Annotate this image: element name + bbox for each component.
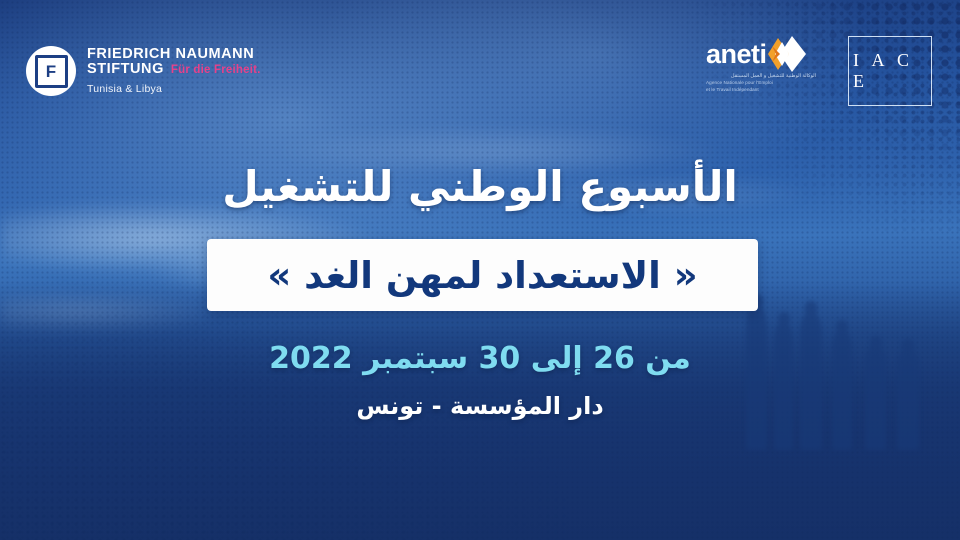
event-poster: F FRIEDRICH NAUMANN STIFTUNG Für die Fre…: [0, 0, 960, 540]
iace-wordmark: I A C E: [849, 50, 931, 92]
event-headline: الأسبوع الوطني للتشغيل: [0, 163, 960, 211]
logo-aneti: aneti الوكالة الوطنية للتشغيل و العمل ال…: [706, 38, 816, 94]
aneti-subtitle: الوكالة الوطنية للتشغيل و العمل المستقل …: [706, 73, 816, 94]
fnf-logo-mark-icon: F: [26, 46, 76, 96]
aneti-wordmark-row: aneti: [706, 38, 816, 72]
fnf-slogan: Für die Freiheit.: [171, 64, 261, 76]
fnf-line-1: FRIEDRICH NAUMANN: [87, 47, 261, 62]
event-theme-box: « الاستعداد لمهن الغد »: [207, 239, 758, 311]
fnf-line-2: STIFTUNG: [87, 62, 164, 77]
fnf-region-label: Tunisia & Libya: [87, 84, 261, 95]
silhouette-person: [746, 305, 767, 450]
aneti-subtitle-fr-2: et le Travail Indépendant: [706, 87, 816, 94]
fnf-logo-text: FRIEDRICH NAUMANN STIFTUNG Für die Freih…: [87, 47, 261, 96]
logo-friedrich-naumann-stiftung: F FRIEDRICH NAUMANN STIFTUNG Für die Fre…: [26, 46, 261, 96]
event-theme-text: « الاستعداد لمهن الغد »: [267, 254, 697, 297]
event-venue: دار المؤسسة - تونس: [0, 392, 960, 420]
aneti-arrow-icon: [758, 32, 806, 76]
logo-iace: I A C E: [848, 36, 932, 106]
silhouette-person: [800, 312, 822, 450]
aneti-subtitle-fr-1: Agence Nationale pour l'Emploi: [706, 80, 816, 87]
event-dates: من 26 إلى 30 سبتمبر 2022: [0, 341, 960, 376]
fnf-mark-letter: F: [35, 55, 68, 88]
fnf-line-2-row: STIFTUNG Für die Freiheit.: [87, 62, 261, 77]
